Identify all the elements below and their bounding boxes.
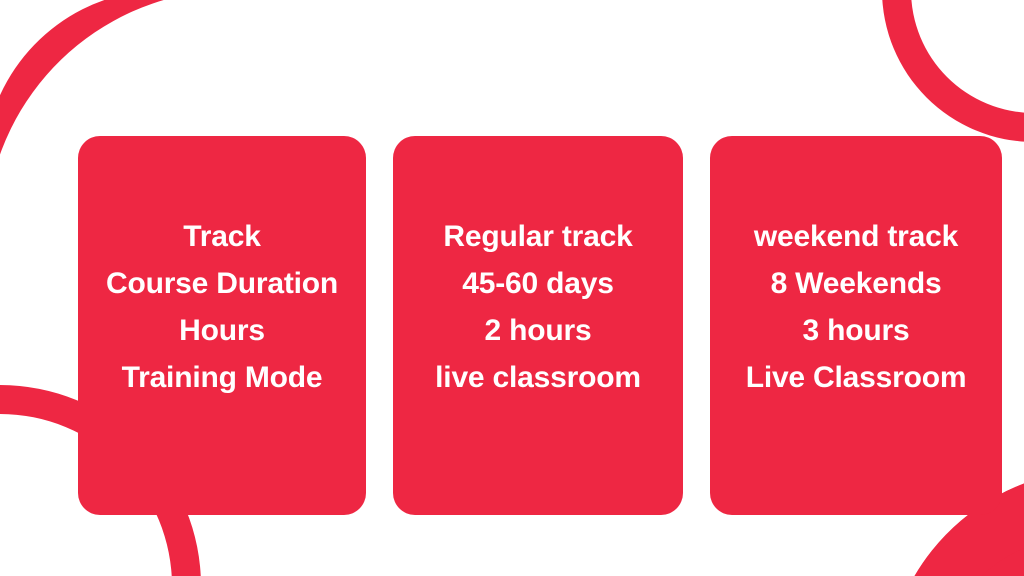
regular-track-card[interactable]: Regular track 45-60 days 2 hours live cl… [393,136,683,515]
weekend-track-card-line-4: Live Classroom [746,354,967,401]
top-right-arc-icon [882,0,1024,142]
regular-track-card-line-3: 2 hours [485,307,592,354]
labels-card[interactable]: Track Course Duration Hours Training Mod… [78,136,366,515]
regular-track-card-line-4: live classroom [435,354,641,401]
slide-canvas: Track Course Duration Hours Training Mod… [0,0,1024,576]
weekend-track-card[interactable]: weekend track 8 Weekends 3 hours Live Cl… [710,136,1002,515]
regular-track-card-line-1: Regular track [443,213,632,260]
weekend-track-card-line-3: 3 hours [803,307,910,354]
labels-card-line-4: Training Mode [122,354,323,401]
comparison-cards-row: Track Course Duration Hours Training Mod… [78,136,1002,515]
labels-card-line-1: Track [183,213,260,260]
labels-card-line-2: Course Duration [106,260,338,307]
weekend-track-card-line-1: weekend track [754,213,958,260]
weekend-track-card-line-2: 8 Weekends [771,260,942,307]
labels-card-line-3: Hours [179,307,265,354]
regular-track-card-line-2: 45-60 days [462,260,613,307]
